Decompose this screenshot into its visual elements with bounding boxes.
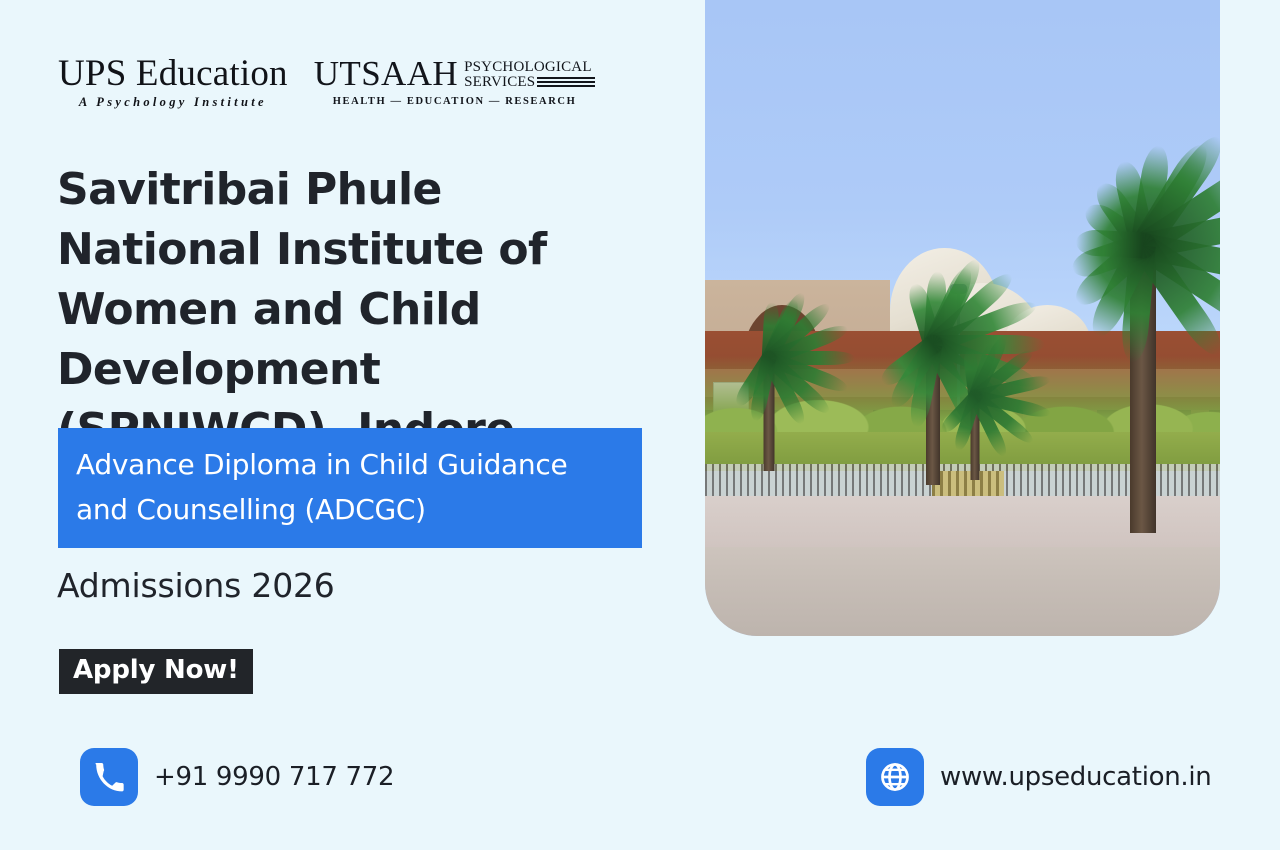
utsaah-logo-top: UTSAAH PSYCHOLOGICAL SERVICES xyxy=(314,57,596,91)
contact-website[interactable]: www.upseducation.in xyxy=(866,748,1211,806)
utsaah-logo-line2: SERVICES xyxy=(464,75,535,90)
utsaah-logo-stack: PSYCHOLOGICAL SERVICES xyxy=(464,57,595,91)
campus-photo xyxy=(705,0,1220,636)
apply-now-button[interactable]: Apply Now! xyxy=(59,649,253,694)
ups-education-logo: UPS Education A Psychology Institute xyxy=(58,55,288,109)
course-name-band: Advance Diploma in Child Guidance and Co… xyxy=(58,428,642,548)
contact-phone[interactable]: +91 9990 717 772 xyxy=(80,748,394,806)
boundary-wall xyxy=(705,496,1220,553)
utsaah-logo: UTSAAH PSYCHOLOGICAL SERVICES HEALTH — E… xyxy=(314,57,596,107)
admissions-year-label: Admissions 2026 xyxy=(57,566,335,605)
logo-row: UPS Education A Psychology Institute UTS… xyxy=(58,55,595,109)
road-foreground xyxy=(705,547,1220,636)
utsaah-logo-line2-row: SERVICES xyxy=(464,75,595,90)
campus-photo-scene xyxy=(705,0,1220,636)
utsaah-rule-decoration-icon xyxy=(537,77,595,88)
phone-icon xyxy=(80,748,138,806)
left-content-column: UPS Education A Psychology Institute UTS… xyxy=(0,0,705,850)
ups-logo-tagline: A Psychology Institute xyxy=(79,96,267,109)
website-url-text: www.upseducation.in xyxy=(940,762,1211,792)
utsaah-logo-line1: PSYCHOLOGICAL xyxy=(464,60,595,75)
utsaah-logo-tagline: HEALTH — EDUCATION — RESEARCH xyxy=(333,96,577,107)
globe-icon xyxy=(866,748,924,806)
ups-logo-name: UPS Education xyxy=(58,55,288,92)
utsaah-logo-word: UTSAAH xyxy=(314,57,458,91)
page-title: Savitribai Phule National Institute of W… xyxy=(57,160,657,460)
phone-number-text: +91 9990 717 772 xyxy=(154,762,394,792)
admission-banner: UPS Education A Psychology Institute UTS… xyxy=(0,0,1280,850)
